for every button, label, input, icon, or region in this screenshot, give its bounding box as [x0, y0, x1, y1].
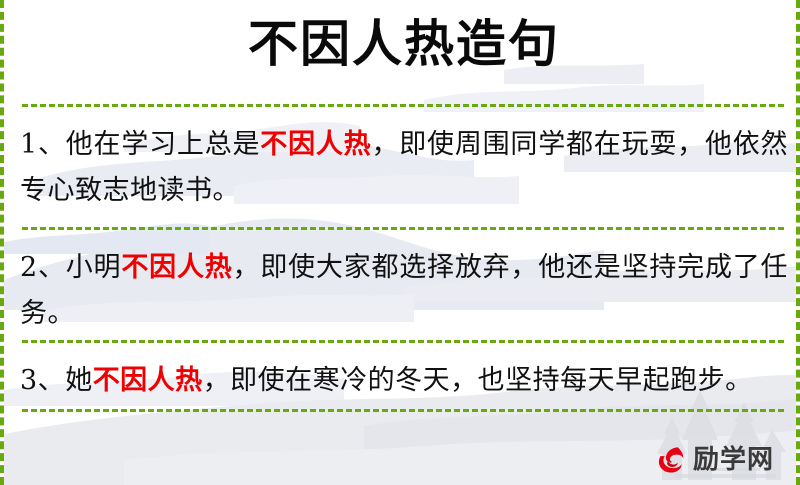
sentence-text-after-3: ，即使在寒冷的冬天，也坚持每天早起跑步。	[203, 365, 753, 396]
sentence-number-2: 2、	[20, 252, 66, 283]
sentence-number-1: 1、	[20, 129, 66, 160]
site-logo: 励学网	[654, 443, 774, 477]
divider-top	[22, 104, 784, 107]
example-sentence-3: 3、她不因人热，即使在寒冷的冬天，也坚持每天早起跑步。	[20, 358, 788, 404]
example-sentence-2: 2、小明不因人热，即使大家都选择放弃，他还是坚持完成了任务。	[20, 245, 788, 337]
sentence-text-before-1: 他在学习上总是	[66, 129, 261, 160]
example-sentence-1: 1、他在学习上总是不因人热，即使周围同学都在玩耍，他依然专心致志地读书。	[20, 122, 788, 214]
site-logo-text: 励学网	[693, 445, 774, 475]
page-title-container: 不因人热造句	[4, 14, 800, 74]
sentence-text-before-3: 她	[65, 365, 93, 396]
idiom-highlight-3: 不因人热	[93, 365, 203, 396]
slide-canvas: 不因人热造句 1、他在学习上总是不因人热，即使周围同学都在玩耍，他依然专心致志地…	[0, 0, 800, 485]
idiom-highlight-1: 不因人热	[260, 129, 371, 160]
flame-swirl-icon	[654, 443, 688, 477]
divider-after-sentence-2	[22, 340, 784, 343]
divider-after-sentence-1	[22, 227, 784, 230]
idiom-highlight-2: 不因人热	[121, 252, 232, 283]
page-title: 不因人热造句	[248, 14, 560, 74]
sentence-text-before-2: 小明	[66, 252, 122, 283]
divider-bottom	[22, 409, 784, 412]
sentence-number-3: 3、	[20, 365, 65, 396]
